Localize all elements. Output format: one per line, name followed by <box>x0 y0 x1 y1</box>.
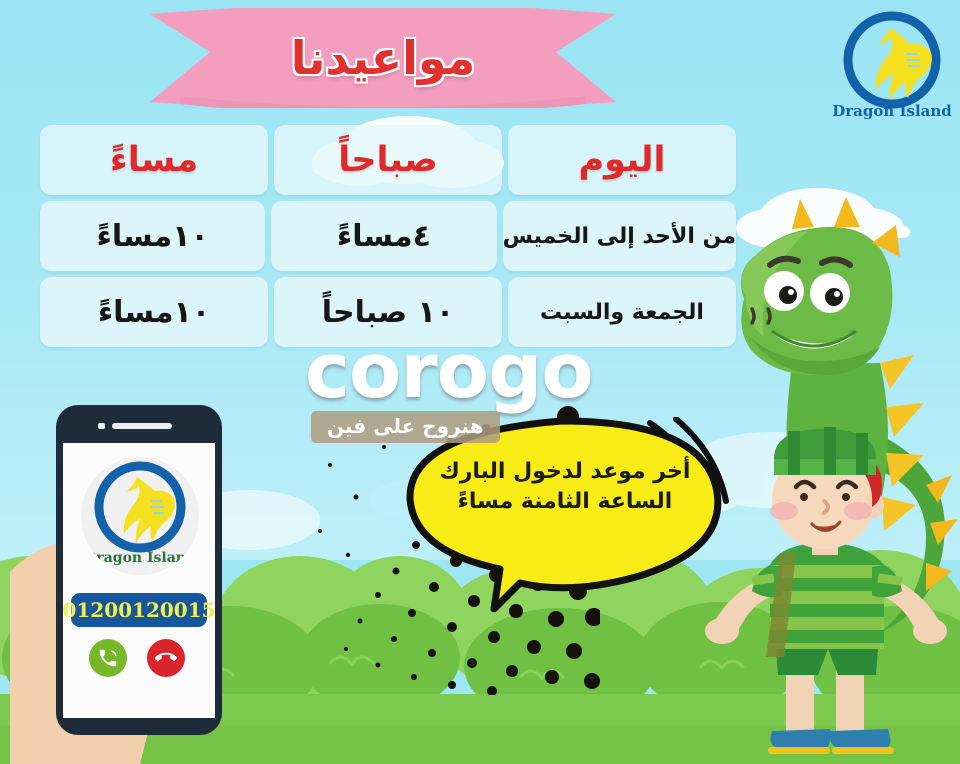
header-cell-evening: مساءً <box>40 125 268 195</box>
row0-morning-value: ٤مساءً <box>337 219 431 254</box>
notice-line-2: الساعة الثامنة مساءً <box>436 487 694 517</box>
row1-day-value: الجمعة والسبت <box>540 300 704 325</box>
speech-bubble: أخر موعد لدخول البارك الساعة الثامنة مسا… <box>400 417 730 612</box>
cartoon-boy-icon <box>700 425 950 764</box>
notice-text: أخر موعد لدخول البارك الساعة الثامنة مسا… <box>436 457 694 516</box>
table-row: من الأحد إلى الخميس ٤مساءً ١٠مساءً <box>40 201 736 271</box>
row1-morning-value: ١٠ صباحاً <box>322 295 454 330</box>
phone-call-icon <box>97 647 119 669</box>
phone-number[interactable]: 01200120015 <box>71 593 207 627</box>
row0-day-value: من الأحد إلى الخميس <box>503 224 736 249</box>
header-day-label: اليوم <box>578 140 665 180</box>
table-header-row: اليوم صباحاً مساءً <box>40 125 736 195</box>
header-evening-label: مساءً <box>110 140 198 180</box>
dragon-island-logo-icon: Dragon Island <box>832 4 952 124</box>
dragon-island-logo-icon: Dragon Island <box>81 457 199 575</box>
schedule-table: اليوم صباحاً مساءً من الأحد إلى الخميس ٤… <box>40 125 736 353</box>
header-cell-morning: صباحاً <box>274 125 502 195</box>
row0-morning-cell: ٤مساءً <box>271 201 496 271</box>
svg-text:Dragon Island: Dragon Island <box>84 550 196 566</box>
row0-day-cell: من الأحد إلى الخميس <box>503 201 736 271</box>
row1-evening-cell: ١٠مساءً <box>40 277 268 347</box>
phone-screen: Dragon Island 01200120015 <box>63 443 215 718</box>
row0-evening-cell: ١٠مساءً <box>40 201 265 271</box>
row0-evening-value: ١٠مساءً <box>96 219 208 254</box>
phone-hangup-icon <box>155 647 177 669</box>
phone-speaker-icon <box>112 423 172 429</box>
notice-line-1: أخر موعد لدخول البارك <box>436 457 694 487</box>
accept-call-button[interactable] <box>89 639 127 677</box>
poster-canvas: مواعيدنا Dragon Island اليوم صباحاً مساء… <box>0 0 960 764</box>
header-morning-label: صباحاً <box>338 140 438 180</box>
row1-morning-cell: ١٠ صباحاً <box>274 277 502 347</box>
page-title: مواعيدنا <box>150 8 616 108</box>
row1-day-cell: الجمعة والسبت <box>508 277 736 347</box>
header-cell-day: اليوم <box>508 125 736 195</box>
decline-call-button[interactable] <box>147 639 185 677</box>
banner-ribbon: مواعيدنا <box>150 8 616 108</box>
table-row: الجمعة والسبت ١٠ صباحاً ١٠مساءً <box>40 277 736 347</box>
phone-camera-icon <box>98 423 105 429</box>
row1-evening-value: ١٠مساءً <box>98 295 210 330</box>
phone-device: Dragon Island 01200120015 <box>56 405 222 735</box>
svg-text:Dragon Island: Dragon Island <box>832 102 952 120</box>
